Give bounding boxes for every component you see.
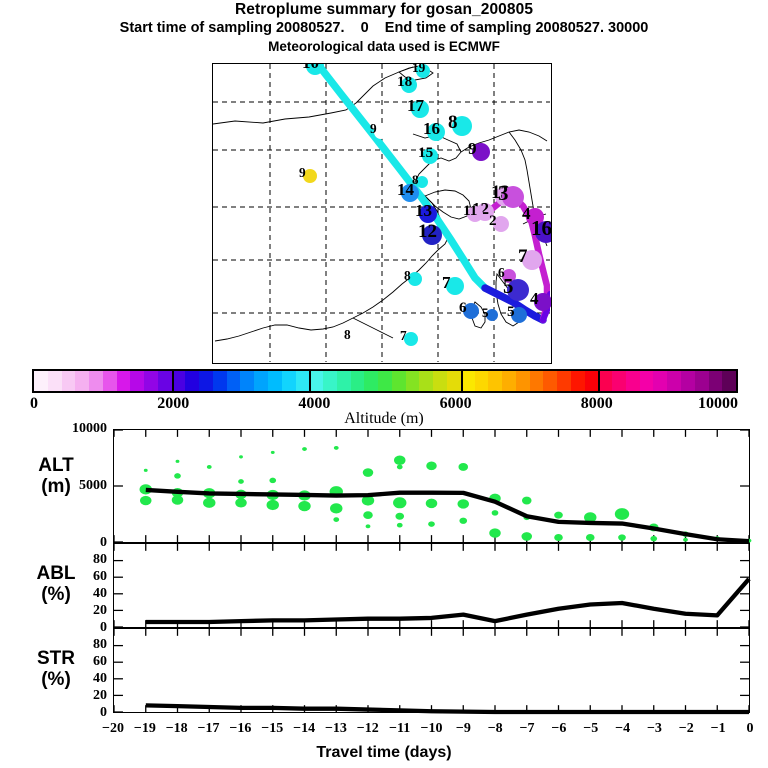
y-tick-label: 40: [35, 586, 107, 602]
map-marker-label: 9: [370, 122, 377, 135]
scatter-point: [203, 498, 215, 508]
scatter-point: [618, 534, 626, 540]
scatter-point: [334, 446, 339, 450]
y-tick-label: 80: [35, 637, 107, 653]
scatter-point: [366, 524, 371, 528]
alt-mean-line: [146, 490, 749, 541]
scatter-point: [363, 511, 373, 519]
y-tick-label: 20: [35, 688, 107, 704]
abl-series-line: [146, 579, 749, 622]
colorbar-swatch: [433, 371, 447, 391]
map-marker-label: 7: [400, 329, 407, 342]
scatter-point: [683, 538, 688, 542]
colorbar-swatch: [475, 371, 489, 391]
scatter-point: [207, 465, 212, 469]
map-marker-label: 16: [423, 120, 440, 137]
scatter-point: [235, 498, 246, 507]
scatter-point: [267, 500, 279, 510]
page-title: Retroplume summary for gosan_200805: [0, 0, 768, 19]
y-tick-label: 60: [35, 569, 107, 585]
y-tick-label: 5000: [35, 478, 107, 494]
map-marker-label: 3: [498, 183, 508, 204]
map-marker-label: 5: [503, 276, 513, 297]
colorbar-swatch: [557, 371, 571, 391]
y-tick-label: 0: [35, 535, 107, 551]
y-tick-label: 40: [35, 671, 107, 687]
colorbar-swatch: [530, 371, 544, 391]
colorbar-swatch: [695, 371, 709, 391]
scatter-point: [522, 497, 532, 505]
colorbar-swatch: [640, 371, 654, 391]
colorbar-swatch: [130, 371, 144, 391]
str-series-line: [146, 705, 749, 712]
colorbar-swatch: [254, 371, 268, 391]
colorbar-swatch: [488, 371, 502, 391]
scatter-point: [144, 469, 148, 472]
y-tick-label: 60: [35, 654, 107, 670]
abl-x-ticks: [114, 544, 749, 627]
colorbar-swatch: [62, 371, 76, 391]
map-marker-label: 18: [397, 74, 412, 89]
colorbar-swatch: [612, 371, 626, 391]
map-marker-label: 11: [463, 203, 477, 218]
str-plot: [114, 629, 749, 712]
scatter-point: [298, 501, 310, 511]
map-marker-label: 12: [418, 222, 437, 241]
colorbar-swatch: [378, 371, 392, 391]
colorbar-swatch: [598, 371, 612, 391]
abl-panel[interactable]: [113, 543, 750, 628]
map-marker-label: 17: [407, 97, 424, 114]
retroplume-map[interactable]: 1019181791689159814131213121143216768754…: [212, 63, 552, 364]
scatter-point: [586, 534, 595, 541]
colorbar-swatch: [48, 371, 62, 391]
map-marker-label: 10: [302, 63, 319, 71]
colorbar-swatch: [185, 371, 199, 391]
scatter-point: [615, 508, 629, 520]
scatter-point: [363, 468, 374, 477]
y-tick-label: 80: [35, 552, 107, 568]
y-tick-label: 10000: [35, 421, 107, 437]
alt-plot: [114, 430, 749, 542]
map-marker-label: 16: [531, 218, 552, 239]
map-marker-label: 4: [522, 205, 531, 222]
map-marker-label: 5: [482, 306, 489, 319]
colorbar-swatch: [516, 371, 530, 391]
scatter-point: [271, 451, 275, 454]
colorbar-swatch: [213, 371, 227, 391]
scatter-point: [333, 517, 339, 522]
scatter-point: [489, 528, 500, 537]
colorbar-swatch: [626, 371, 640, 391]
map-marker-label: 8: [404, 269, 411, 282]
scatter-point: [650, 536, 657, 542]
colorbar-swatch: [502, 371, 516, 391]
scatter-point: [395, 513, 404, 520]
title-block: Retroplume summary for gosan_200805 Star…: [0, 0, 768, 56]
colorbar-swatch: [282, 371, 296, 391]
colorbar-swatch: [571, 371, 585, 391]
scatter-point: [426, 499, 437, 508]
map-marker-label: 5: [507, 304, 515, 319]
abl-plot: [114, 544, 749, 627]
alt-panel[interactable]: [113, 429, 750, 543]
colorbar-swatch: [667, 371, 681, 391]
colorbar-swatch: [103, 371, 117, 391]
scatter-point: [458, 499, 469, 508]
map-marker-label: 9: [468, 140, 477, 157]
colorbar-swatch: [144, 371, 158, 391]
map-marker-label: 14: [397, 181, 414, 198]
str-x-ticks: [114, 629, 749, 712]
cyan-trajectory: [313, 64, 485, 288]
scatter-point: [239, 455, 243, 458]
scatter-point: [176, 460, 180, 463]
colorbar-swatch: [364, 371, 378, 391]
map-marker-label: 2: [489, 213, 497, 228]
map-marker-label: 8: [344, 328, 351, 341]
scatter-point: [426, 462, 437, 471]
colorbar-swatch: [75, 371, 89, 391]
y-tick-label: 0: [35, 620, 107, 636]
sampling-time-line: Start time of sampling 20080527. 0 End t…: [0, 19, 768, 38]
colorbar-swatch: [296, 371, 310, 391]
colorbar-swatch: [199, 371, 213, 391]
map-gridlines: [213, 64, 550, 362]
scatter-point: [393, 497, 406, 508]
y-tick-label: 0: [35, 705, 107, 721]
scatter-point: [554, 534, 563, 541]
colorbar: [32, 369, 738, 393]
scatter-point: [302, 447, 307, 451]
scatter-point: [554, 512, 563, 519]
scatter-point: [269, 478, 276, 484]
colorbar-swatch: [585, 371, 599, 391]
colorbar-swatch: [709, 371, 723, 391]
colorbar-swatch: [117, 371, 131, 391]
scatter-point: [397, 465, 403, 470]
colorbar-swatch: [447, 371, 461, 391]
colorbar-swatch: [543, 371, 557, 391]
alt-label-line1: ALT: [6, 455, 106, 476]
map-marker-label: 7: [442, 274, 451, 291]
met-data-line: Meteorological data used is ECMWF: [0, 38, 768, 56]
y-tick-label: 20: [35, 603, 107, 619]
colorbar-gradient: [32, 369, 738, 393]
map-marker-label: 7: [518, 247, 528, 266]
map-marker-label: 15: [418, 145, 433, 160]
map-marker-label: 13: [415, 202, 432, 219]
colorbar-swatch: [89, 371, 103, 391]
colorbar-swatch: [172, 371, 186, 391]
scatter-point: [238, 479, 244, 484]
colorbar-swatch: [392, 371, 406, 391]
scatter-point: [397, 523, 403, 528]
colorbar-swatch: [681, 371, 695, 391]
colorbar-swatch: [351, 371, 365, 391]
scatter-point: [459, 518, 467, 524]
map-marker-label: 19: [412, 63, 425, 74]
scatter-point: [428, 521, 435, 527]
colorbar-swatch: [227, 371, 241, 391]
colorbar-swatch: [309, 371, 323, 391]
scatter-point: [492, 510, 499, 516]
colorbar-swatch: [419, 371, 433, 391]
colorbar-swatch: [461, 371, 475, 391]
colorbar-swatch: [268, 371, 282, 391]
scatter-point: [330, 503, 342, 513]
map-marker-label: 9: [299, 166, 306, 179]
colorbar-swatch: [406, 371, 420, 391]
map-marker-label: 6: [459, 300, 467, 315]
map-canvas: [213, 64, 550, 362]
str-panel[interactable]: [113, 628, 750, 713]
scatter-point: [394, 456, 405, 465]
colorbar-swatch: [158, 371, 172, 391]
scatter-point: [172, 495, 183, 504]
colorbar-swatch: [337, 371, 351, 391]
scatter-point: [458, 463, 468, 471]
map-marker-label: 4: [530, 290, 539, 307]
colorbar-swatch: [722, 371, 736, 391]
x-axis-title: Travel time (days): [0, 744, 768, 762]
map-marker-label: 8: [448, 113, 458, 132]
scatter-point: [140, 496, 151, 505]
scatter-point: [174, 473, 181, 479]
colorbar-swatch: [323, 371, 337, 391]
x-tick-label: 0: [730, 721, 768, 737]
colorbar-swatch: [240, 371, 254, 391]
colorbar-title: Altitude (m): [0, 410, 768, 428]
colorbar-swatch: [653, 371, 667, 391]
colorbar-swatch: [34, 371, 48, 391]
scatter-point: [521, 532, 532, 541]
